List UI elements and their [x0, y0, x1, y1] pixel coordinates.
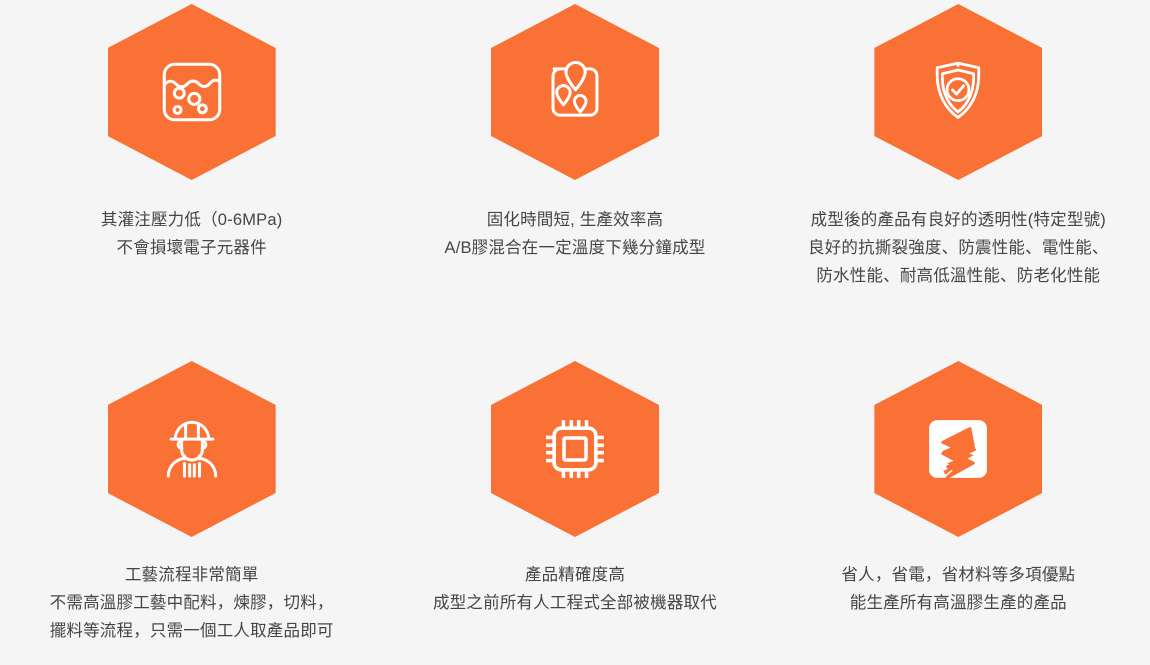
map-pins-icon: [538, 55, 612, 129]
caption-line: 不會損壞電子元器件: [101, 234, 283, 262]
worker-helmet-icon: [155, 412, 229, 486]
feature-card-1: 其灌注壓力低（0-6MPa) 不會損壞電子元器件: [0, 0, 383, 355]
feature-caption-2: 固化時間短, 生產效率高 A/B膠混合在一定溫度下幾分鐘成型: [444, 206, 705, 262]
hex-badge-2: [491, 4, 659, 180]
feature-card-5: 產品精確度高 成型之前所有人工程式全部被機器取代: [383, 355, 766, 665]
caption-line: 能生產所有高溫膠生產的產品: [841, 589, 1075, 617]
hex-badge-3: [874, 4, 1042, 180]
caption-line: A/B膠混合在一定溫度下幾分鐘成型: [444, 234, 705, 262]
caption-line: 擺料等流程，只需一個工人取產品即可: [50, 617, 334, 645]
feature-caption-3: 成型後的產品有良好的透明性(特定型號) 良好的抗撕裂強度、防震性能、電性能、 防…: [808, 206, 1109, 290]
hex-badge-4: [108, 361, 276, 537]
caption-line: 其灌注壓力低（0-6MPa): [101, 206, 283, 234]
hexagon-shape-3: [874, 4, 1042, 180]
hex-badge-1: [108, 4, 276, 180]
feature-card-6: 省人，省電，省材料等多項優點 能生產所有高溫膠生產的產品: [767, 355, 1150, 665]
features-grid: 其灌注壓力低（0-6MPa) 不會損壞電子元器件 固化時間短, 生產效率高 A/…: [0, 0, 1150, 665]
feature-caption-6: 省人，省電，省材料等多項優點 能生產所有高溫膠生產的產品: [841, 561, 1075, 617]
caption-line: 工藝流程非常簡單: [50, 561, 334, 589]
caption-line: 成型之前所有人工程式全部被機器取代: [433, 589, 717, 617]
hexagon-shape-6: [874, 361, 1042, 537]
caption-line: 不需高溫膠工藝中配料，煉膠，切料，: [50, 589, 334, 617]
hexagon-shape-4: [108, 361, 276, 537]
caption-line: 防水性能、耐高低溫性能、防老化性能: [808, 262, 1109, 290]
feature-caption-1: 其灌注壓力低（0-6MPa) 不會損壞電子元器件: [101, 206, 283, 262]
feature-card-3: 成型後的產品有良好的透明性(特定型號) 良好的抗撕裂強度、防震性能、電性能、 防…: [767, 0, 1150, 355]
caption-line: 省人，省電，省材料等多項優點: [841, 561, 1075, 589]
hex-badge-6: [874, 361, 1042, 537]
caption-line: 良好的抗撕裂強度、防震性能、電性能、: [808, 234, 1109, 262]
feature-card-2: 固化時間短, 生產效率高 A/B膠混合在一定溫度下幾分鐘成型: [383, 0, 766, 355]
lightning-bolt-icon: [921, 412, 995, 486]
caption-line: 固化時間短, 生產效率高: [444, 206, 705, 234]
feature-caption-5: 產品精確度高 成型之前所有人工程式全部被機器取代: [433, 561, 717, 617]
caption-line: 產品精確度高: [433, 561, 717, 589]
feature-caption-4: 工藝流程非常簡單 不需高溫膠工藝中配料，煉膠，切料， 擺料等流程，只需一個工人取…: [50, 561, 334, 645]
liquid-container-icon: [155, 55, 229, 129]
shield-check-icon: [921, 55, 995, 129]
hexagon-shape-5: [491, 361, 659, 537]
hex-badge-5: [491, 361, 659, 537]
microchip-icon: [538, 412, 612, 486]
hexagon-shape-1: [108, 4, 276, 180]
feature-card-4: 工藝流程非常簡單 不需高溫膠工藝中配料，煉膠，切料， 擺料等流程，只需一個工人取…: [0, 355, 383, 665]
caption-line: 成型後的產品有良好的透明性(特定型號): [808, 206, 1109, 234]
hexagon-shape-2: [491, 4, 659, 180]
